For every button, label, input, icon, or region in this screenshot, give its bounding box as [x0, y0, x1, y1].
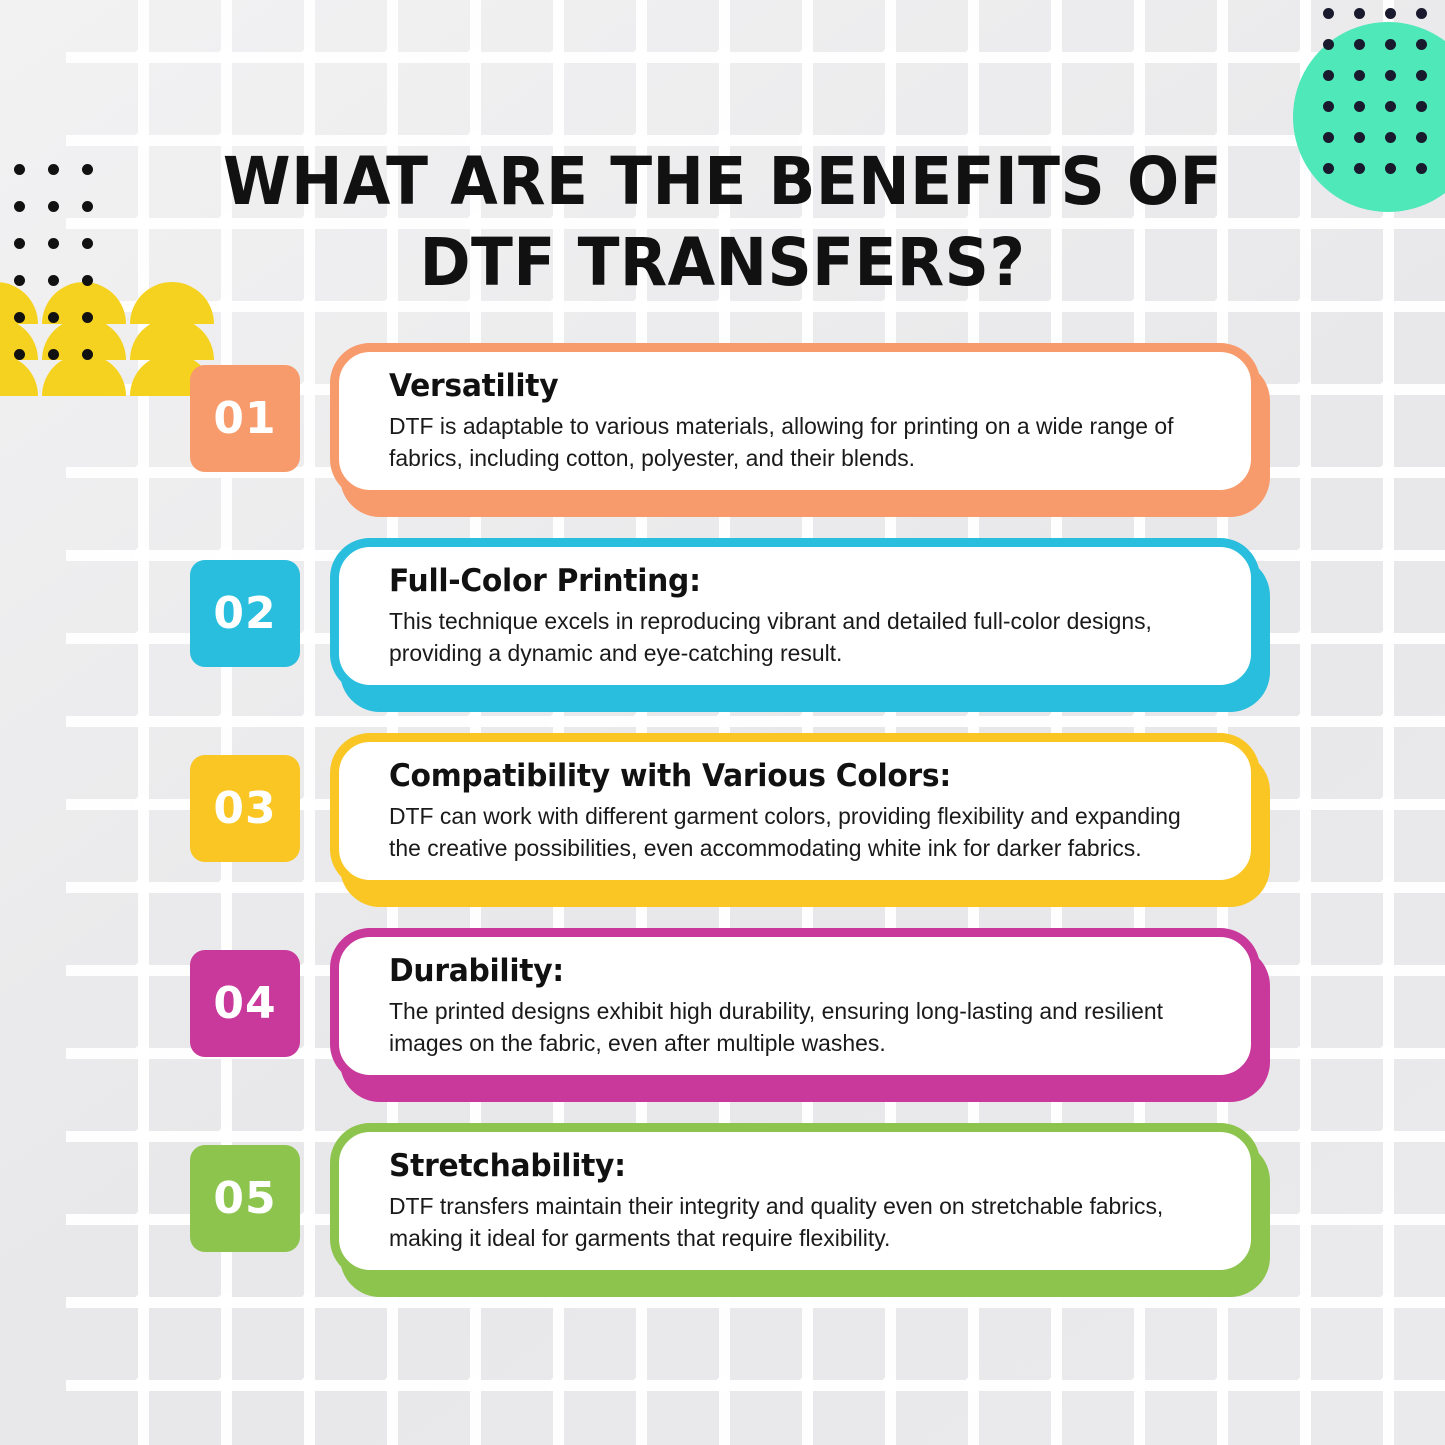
decorative-dot [1323, 70, 1334, 81]
decorative-dot [1416, 163, 1427, 174]
benefit-card-body: DTF can work with different garment colo… [389, 800, 1200, 865]
decorative-dot [1416, 8, 1427, 19]
benefit-number-badge: 05 [190, 1145, 300, 1252]
benefit-card: 03Compatibility with Various Colors:DTF … [0, 733, 1445, 928]
decorative-dot [82, 275, 93, 286]
benefit-card-title: Stretchability: [389, 1148, 1188, 1184]
decorative-dot [48, 164, 59, 175]
decorative-dot [82, 201, 93, 212]
benefit-card-panel: Stretchability:DTF transfers maintain th… [330, 1123, 1260, 1279]
decorative-dot [14, 238, 25, 249]
benefit-card-body: This technique excels in reproducing vib… [389, 605, 1200, 670]
decorative-dot [1385, 101, 1396, 112]
benefit-card-shell: Compatibility with Various Colors:DTF ca… [330, 733, 1260, 901]
decorative-dot [1323, 101, 1334, 112]
benefit-card-panel: VersatilityDTF is adaptable to various m… [330, 343, 1260, 499]
decorative-dot [1323, 163, 1334, 174]
decorative-dot [82, 312, 93, 323]
benefit-card: 04Durability:The printed designs exhibit… [0, 928, 1445, 1123]
benefit-card: 05Stretchability:DTF transfers maintain … [0, 1123, 1445, 1318]
benefit-card-list: 01VersatilityDTF is adaptable to various… [0, 343, 1445, 1318]
benefit-number-badge: 01 [190, 365, 300, 472]
decorative-dot [48, 201, 59, 212]
decorative-dot [14, 312, 25, 323]
decorative-dot [48, 312, 59, 323]
infographic-canvas: WHAT ARE THE BENEFITS OF DTF TRANSFERS? … [0, 0, 1445, 1445]
decorative-dot [1416, 101, 1427, 112]
yellow-dome [130, 282, 214, 324]
decorative-dot [1323, 39, 1334, 50]
benefit-card: 01VersatilityDTF is adaptable to various… [0, 343, 1445, 538]
dot-grid-left [14, 164, 86, 364]
yellow-dome [0, 282, 38, 324]
benefit-card-title: Versatility [389, 368, 1188, 404]
benefit-card-title: Durability: [389, 953, 1188, 989]
decorative-dot [14, 275, 25, 286]
decorative-dot [1354, 70, 1365, 81]
page-title: WHAT ARE THE BENEFITS OF DTF TRANSFERS? [218, 142, 1227, 303]
decorative-dot [1385, 8, 1396, 19]
benefit-card-shell: Full-Color Printing:This technique excel… [330, 538, 1260, 706]
decorative-dot [1323, 8, 1334, 19]
yellow-dome [42, 282, 126, 324]
decorative-dot [1385, 132, 1396, 143]
decorative-dot [1323, 132, 1334, 143]
teal-circle-decoration [1293, 22, 1445, 212]
benefit-number-badge: 04 [190, 950, 300, 1057]
dot-grid-top-right [1323, 8, 1435, 180]
benefit-card-panel: Full-Color Printing:This technique excel… [330, 538, 1260, 694]
benefit-card: 02Full-Color Printing:This technique exc… [0, 538, 1445, 733]
benefit-number-badge: 03 [190, 755, 300, 862]
decorative-dot [1354, 163, 1365, 174]
decorative-dot [1354, 39, 1365, 50]
benefit-number-badge: 02 [190, 560, 300, 667]
decorative-dot [1416, 132, 1427, 143]
benefit-card-panel: Compatibility with Various Colors:DTF ca… [330, 733, 1260, 889]
benefit-card-panel: Durability:The printed designs exhibit h… [330, 928, 1260, 1084]
decorative-dot [48, 275, 59, 286]
decorative-dot [82, 164, 93, 175]
benefit-card-body: DTF transfers maintain their integrity a… [389, 1190, 1200, 1255]
decorative-dot [1385, 70, 1396, 81]
decorative-dot [1416, 39, 1427, 50]
decorative-dot [14, 201, 25, 212]
decorative-dot [48, 238, 59, 249]
benefit-card-body: The printed designs exhibit high durabil… [389, 995, 1200, 1060]
benefit-card-shell: VersatilityDTF is adaptable to various m… [330, 343, 1260, 511]
decorative-dot [1354, 8, 1365, 19]
decorative-dot [82, 238, 93, 249]
benefit-card-title: Full-Color Printing: [389, 563, 1188, 599]
decorative-dot [14, 164, 25, 175]
decorative-dot [1385, 163, 1396, 174]
decorative-dot [1416, 70, 1427, 81]
benefit-card-title: Compatibility with Various Colors: [389, 758, 1188, 794]
decorative-dot [1385, 39, 1396, 50]
decorative-dot [1354, 132, 1365, 143]
benefit-card-shell: Stretchability:DTF transfers maintain th… [330, 1123, 1260, 1291]
benefit-card-body: DTF is adaptable to various materials, a… [389, 410, 1200, 475]
benefit-card-shell: Durability:The printed designs exhibit h… [330, 928, 1260, 1096]
decorative-dot [1354, 101, 1365, 112]
